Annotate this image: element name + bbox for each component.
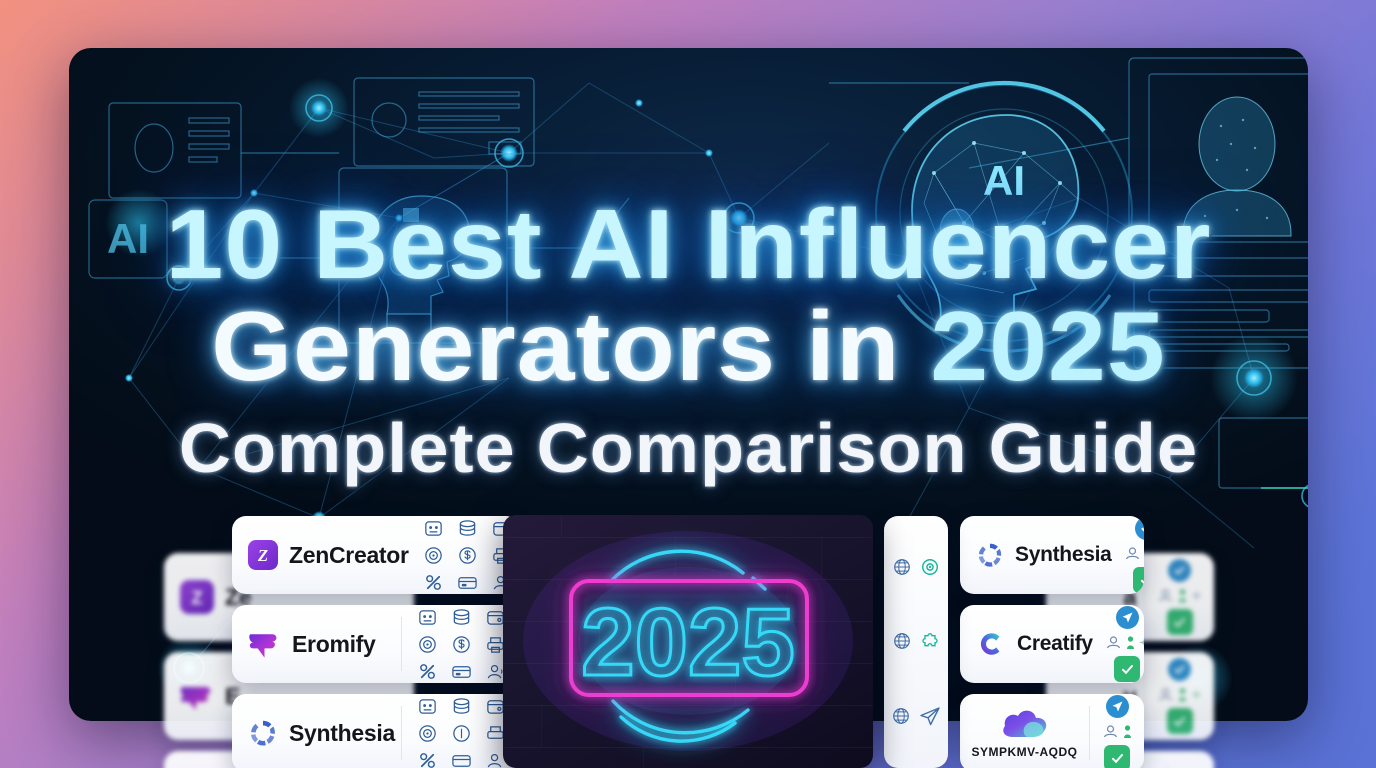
neon-2025-tile: 2025: [503, 515, 873, 768]
green-check-icon: [1114, 656, 1140, 682]
eromify-logo: [248, 629, 281, 659]
sparkle-icon: [1191, 590, 1202, 601]
status-badge-group: [1093, 606, 1144, 682]
person-icon: [1123, 725, 1132, 739]
dollar-coin-icon: [451, 634, 472, 655]
divider: [1166, 763, 1167, 768]
globe-icon: [892, 557, 912, 577]
puzzle-icon: [920, 631, 940, 651]
coins-stack-icon: [457, 518, 478, 539]
svg-text:Z: Z: [257, 546, 268, 565]
green-check-icon: [1167, 708, 1193, 734]
green-check-icon: [1104, 745, 1130, 768]
globe-row: [891, 705, 941, 727]
target-icon: [417, 723, 438, 744]
poster-canvas: AI AI: [0, 0, 1376, 768]
globe-feature-column: [884, 516, 948, 768]
sparkle-icon: [1191, 689, 1202, 700]
cloud-logo: [999, 707, 1051, 743]
card-logo-group: Eromify: [232, 629, 401, 659]
comparison-row-synthesia-right[interactable]: Synthesia: [960, 516, 1144, 594]
status-badge-group: [1090, 695, 1144, 768]
comparison-row-synthesia[interactable]: Synthesia: [232, 694, 520, 768]
card-title: SYMPKMV-AQDQ: [971, 745, 1077, 759]
robot-face-icon: [417, 696, 438, 717]
percent-icon: [423, 572, 444, 593]
person-icon: [1178, 688, 1187, 702]
audience-icons: [1105, 634, 1144, 651]
robot-face-icon: [417, 607, 438, 628]
globe-row: [892, 557, 940, 577]
neon-2025-artwork: 2025: [503, 515, 873, 768]
zencreator-logo: Z: [248, 540, 278, 570]
percent-icon: [417, 750, 438, 768]
send-badge-icon: [1116, 606, 1139, 629]
status-badge-group: [1145, 658, 1214, 734]
credit-card-icon: [457, 572, 478, 593]
verified-badge-icon: [1135, 517, 1144, 540]
card-title: Creatify: [1017, 632, 1093, 656]
coins-stack-icon: [451, 607, 472, 628]
globe-row: [892, 631, 940, 651]
target-icon: [417, 634, 438, 655]
synthesia-logo: [248, 718, 278, 748]
dollar-coin-icon: [457, 545, 478, 566]
card-logo-group: SYMPKMV-AQDQ: [960, 707, 1089, 759]
green-check-icon: [1133, 567, 1144, 593]
card-title: Synthesia: [289, 720, 395, 747]
card-title: ZenCreator: [289, 542, 409, 569]
comparison-row-cloud[interactable]: SYMPKMV-AQDQ: [960, 694, 1144, 768]
audience-icons: [1124, 545, 1144, 562]
globe-icon: [891, 706, 911, 726]
credit-card-icon: [451, 750, 472, 768]
card-logo-group: Z ZenCreator: [232, 540, 409, 570]
user-support-icon: [1124, 545, 1141, 562]
neon-year-label: 2025: [581, 589, 795, 696]
audience-icons: [1102, 723, 1132, 740]
coins-stack-icon: [451, 696, 472, 717]
audience-icons: [1157, 686, 1202, 703]
user-support-icon: [1102, 723, 1119, 740]
card-logo-group: Synthesia: [232, 718, 401, 748]
zencreator-logo: Z: [180, 580, 214, 614]
person-icon: [1178, 589, 1187, 603]
send-icon: [919, 705, 941, 727]
creatify-logo: [976, 629, 1006, 659]
svg-text:Z: Z: [192, 588, 203, 608]
green-check-icon: [1167, 609, 1193, 635]
send-badge-icon: [1106, 695, 1129, 718]
comparison-card-stack-left[interactable]: Z ZenCreator: [232, 516, 520, 768]
audience-icons: [1157, 587, 1202, 604]
synthesia-logo: [976, 541, 1004, 569]
card-logo-group: Creatify: [960, 629, 1093, 659]
card-title: Synthesia: [1015, 543, 1112, 567]
user-support-icon: [1157, 686, 1174, 703]
eromify-logo: [180, 681, 214, 711]
person-icon: [1126, 636, 1135, 650]
robot-face-icon: [423, 518, 444, 539]
user-support-icon: [1157, 587, 1174, 604]
comparison-card-stack-right[interactable]: Synthesia: [960, 516, 1144, 768]
comparison-row-creatify[interactable]: Creatify: [960, 605, 1144, 683]
globe-icon: [892, 631, 912, 651]
hud-panel-ai-label: AI: [107, 215, 149, 262]
percent-icon: [417, 661, 438, 682]
credit-card-icon: [451, 661, 472, 682]
card-logo-group: Synthesia: [960, 541, 1112, 569]
sparkle-icon: [1139, 637, 1144, 648]
hud-brain-ai-label: AI: [983, 157, 1025, 204]
comparison-row-eromify[interactable]: Eromify: [232, 605, 520, 683]
dollar-coin-icon: [451, 723, 472, 744]
user-support-icon: [1105, 634, 1122, 651]
comparison-row-zencreator[interactable]: Z ZenCreator: [232, 516, 520, 594]
target-icon: [423, 545, 444, 566]
card-title: Eromify: [292, 631, 376, 658]
verified-badge-icon: [1168, 658, 1191, 681]
status-badge-group: [1112, 517, 1144, 593]
eye-icon: [920, 557, 940, 577]
status-badge-group: [1145, 559, 1214, 635]
verified-badge-icon: [1168, 559, 1191, 582]
